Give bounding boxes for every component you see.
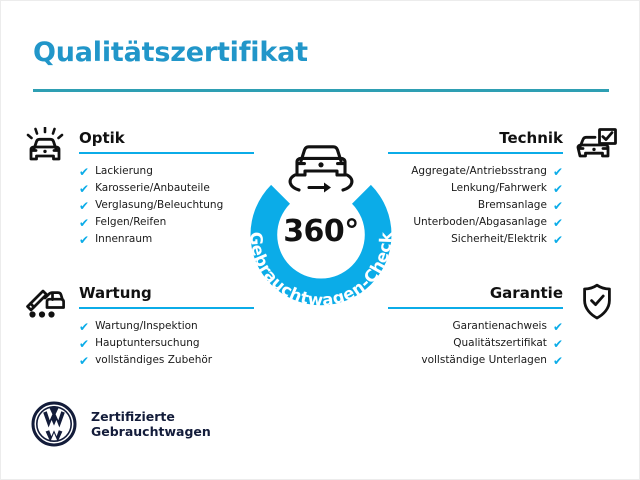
check-icon: ✔ bbox=[553, 217, 563, 229]
list-item-label: Karosserie/Anbauteile bbox=[95, 180, 210, 197]
check-icon: ✔ bbox=[79, 183, 89, 195]
check-icon: ✔ bbox=[79, 166, 89, 178]
list-item-label: Innenraum bbox=[95, 231, 152, 248]
badge-360-gebrauchtwagen-check: Gebrauchtwagen-Check 360° bbox=[225, 119, 417, 319]
check-icon: ✔ bbox=[553, 234, 563, 246]
badge-center-label: 360° bbox=[225, 214, 417, 249]
check-icon: ✔ bbox=[79, 321, 89, 333]
car-rotate-360-icon bbox=[290, 147, 352, 193]
check-icon: ✔ bbox=[79, 355, 89, 367]
list-item-label: Lenkung/Fahrwerk bbox=[451, 180, 547, 197]
check-icon: ✔ bbox=[79, 234, 89, 246]
list-item-label: Wartung/Inspektion bbox=[95, 318, 198, 335]
check-icon: ✔ bbox=[79, 217, 89, 229]
footer-text: Zertifizierte Gebrauchtwagen bbox=[91, 409, 211, 439]
certificate-page: Qualitätszertifikat bbox=[0, 0, 640, 480]
list-item-label: Verglasung/Beleuchtung bbox=[95, 197, 223, 214]
list-item: ✔ vollständige Unterlagen bbox=[369, 352, 563, 369]
check-icon: ✔ bbox=[553, 355, 563, 367]
header-divider bbox=[33, 89, 609, 92]
car-service-tool-icon bbox=[23, 282, 67, 322]
list-item-label: Bremsanlage bbox=[478, 197, 547, 214]
footer-line-1: Zertifizierte bbox=[91, 409, 211, 424]
list-item: ✔ Wartung/Inspektion bbox=[79, 318, 273, 335]
list-item: ✔ Garantienachweis bbox=[369, 318, 563, 335]
list-item-label: Hauptuntersuchung bbox=[95, 335, 200, 352]
check-icon: ✔ bbox=[553, 166, 563, 178]
list-item-label: Unterboden/Abgasanlage bbox=[413, 214, 547, 231]
check-icon: ✔ bbox=[553, 321, 563, 333]
section-item-list: ✔ Garantienachweis ✔ Qualitätszertifikat… bbox=[369, 318, 563, 369]
list-item: ✔ Qualitätszertifikat bbox=[369, 335, 563, 352]
page-title: Qualitätszertifikat bbox=[33, 37, 308, 68]
check-icon: ✔ bbox=[553, 183, 563, 195]
car-shine-icon bbox=[23, 127, 67, 167]
check-icon: ✔ bbox=[79, 200, 89, 212]
list-item-label: vollständige Unterlagen bbox=[421, 352, 547, 369]
car-checkbox-icon bbox=[575, 127, 619, 167]
list-item-label: Sicherheit/Elektrik bbox=[451, 231, 547, 248]
list-item-label: Qualitätszertifikat bbox=[453, 335, 547, 352]
vw-logo-icon bbox=[31, 401, 77, 447]
list-item: ✔ vollständiges Zubehör bbox=[79, 352, 273, 369]
section-item-list: ✔ Wartung/Inspektion ✔ Hauptuntersuchung… bbox=[79, 318, 273, 369]
check-icon: ✔ bbox=[553, 338, 563, 350]
check-icon: ✔ bbox=[79, 338, 89, 350]
footer-brand: Zertifizierte Gebrauchtwagen bbox=[31, 401, 211, 447]
shield-check-icon bbox=[575, 282, 619, 322]
check-icon: ✔ bbox=[553, 200, 563, 212]
list-item-label: Felgen/Reifen bbox=[95, 214, 166, 231]
list-item-label: Aggregate/Antriebsstrang bbox=[411, 163, 547, 180]
list-item-label: Garantienachweis bbox=[453, 318, 547, 335]
list-item-label: vollständiges Zubehör bbox=[95, 352, 212, 369]
list-item-label: Lackierung bbox=[95, 163, 153, 180]
list-item: ✔ Hauptuntersuchung bbox=[79, 335, 273, 352]
footer-line-2: Gebrauchtwagen bbox=[91, 424, 211, 439]
